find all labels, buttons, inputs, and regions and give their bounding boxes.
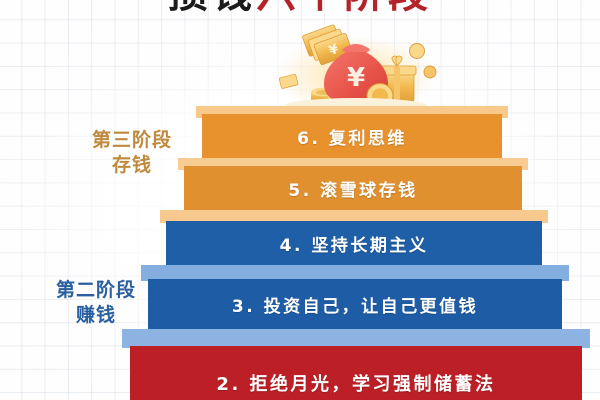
step-5-riser[interactable]: 5. 滚雪球存钱 (184, 166, 522, 210)
step-3-riser[interactable]: 3. 投资自己，让自己更值钱 (148, 279, 562, 329)
page-title-red-part: 六个阶段 (256, 0, 432, 17)
floating-coin-icon-1 (410, 44, 425, 59)
stage-label-3: 第三阶段 存钱 (62, 128, 202, 178)
step-2-riser[interactable]: 2. 拒绝月光，学习强制储蓄法 (130, 346, 582, 400)
svg-text:¥: ¥ (347, 63, 365, 93)
stage-label-3-line1: 第三阶段 (62, 128, 202, 153)
money-bag-illustration: ¥ (268, 24, 444, 118)
step-6-riser[interactable]: 6. 复利思维 (202, 114, 502, 158)
step-6-label: 6. 复利思维 (297, 124, 407, 149)
stage-label-3-line2: 存钱 (62, 153, 202, 178)
page-title: 攒钱六个阶段 (0, 0, 600, 14)
step-4-label: 4. 坚持长期主义 (280, 231, 429, 256)
stage-label-2-line2: 赚钱 (26, 303, 166, 328)
stage-label-2-line1: 第二阶段 (26, 278, 166, 303)
step-3-label: 3. 投资自己，让自己更值钱 (232, 292, 478, 317)
stage-label-2: 第二阶段 赚钱 (26, 278, 166, 328)
poster-canvas: 攒钱六个阶段 (0, 0, 600, 400)
step-4-riser[interactable]: 4. 坚持长期主义 (166, 221, 542, 265)
floating-coin-icon-2 (424, 66, 436, 78)
step-2-label: 2. 拒绝月光，学习强制储蓄法 (216, 370, 495, 396)
step-5-label: 5. 滚雪球存钱 (288, 176, 417, 201)
page-title-dark-part: 攒钱 (168, 0, 256, 17)
